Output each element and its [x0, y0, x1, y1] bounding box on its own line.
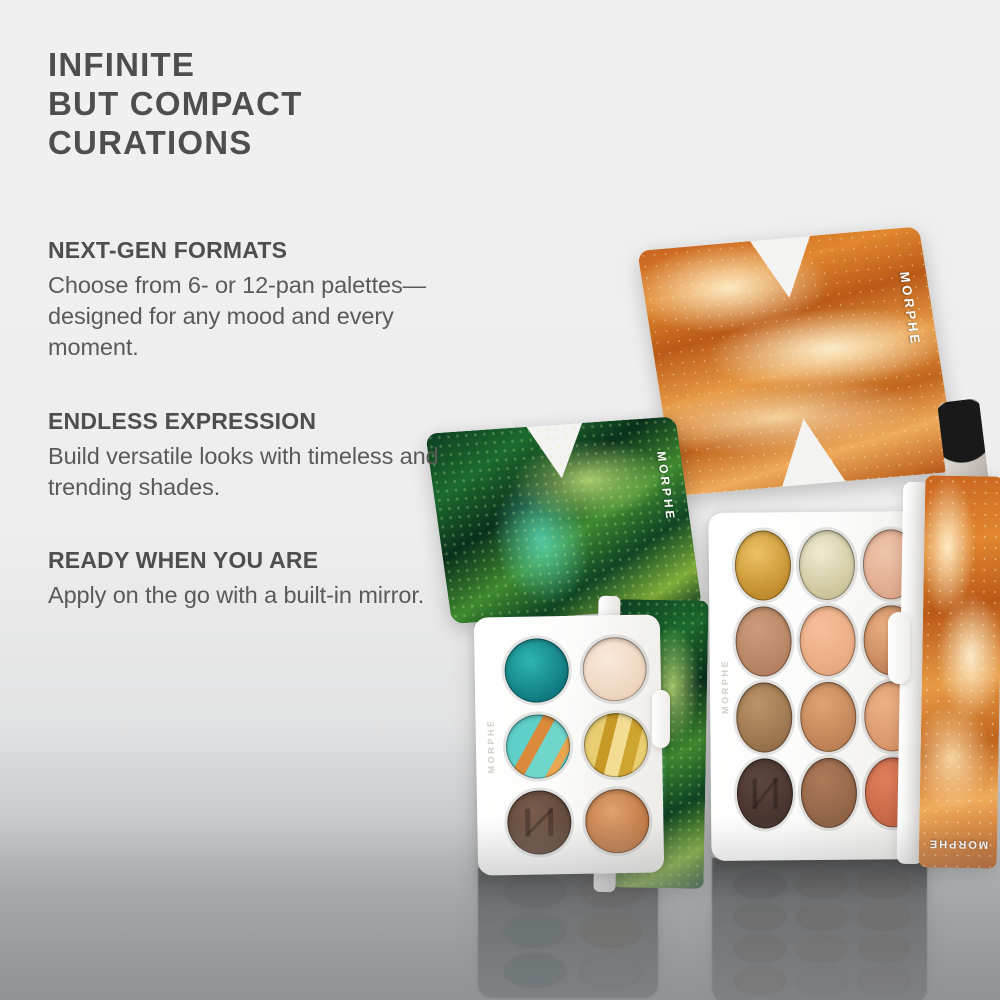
six-pan-rail: MORPHE — [478, 617, 504, 875]
copper-standing-lid[interactable]: MORPHE — [919, 475, 1000, 868]
feature-title: NEXT-GEN FORMATS — [48, 237, 478, 264]
twelve-pan-grid — [735, 529, 922, 841]
feature-body: Apply on the go with a built-in mirror. — [48, 580, 478, 611]
shade-pan[interactable] — [800, 682, 857, 752]
headline-line-3: CURATIONS — [48, 124, 478, 163]
headline-line-1: INFINITE — [48, 46, 478, 85]
feature-next-gen-formats: NEXT-GEN FORMATS Choose from 6- or 12-pa… — [48, 237, 478, 364]
scene-background: INFINITE BUT COMPACT CURATIONS NEXT-GEN … — [0, 0, 1000, 1000]
shade-pan-logo[interactable] — [507, 790, 572, 855]
lid-wordmark: MORPHE — [654, 451, 678, 522]
shade-pan[interactable] — [585, 789, 650, 854]
feature-title: READY WHEN YOU ARE — [48, 547, 478, 574]
lid-notch-bottom — [758, 415, 865, 496]
feature-endless-expression: ENDLESS EXPRESSION Build versatile looks… — [48, 408, 478, 504]
copper-foil-lid[interactable]: MORPHE — [637, 226, 957, 496]
lid-notch-top — [525, 421, 591, 481]
clasp-tab-twelve-pan[interactable] — [888, 612, 910, 684]
shade-pan[interactable] — [799, 530, 856, 600]
shade-pan[interactable] — [735, 530, 792, 600]
feature-body: Build versatile looks with timeless and … — [48, 441, 478, 504]
reflection-pan-grid — [734, 867, 914, 995]
shade-pan[interactable] — [505, 714, 570, 779]
lid-notch-top — [749, 234, 821, 301]
rail-wordmark: MORPHE — [486, 719, 497, 774]
six-pan-grid — [504, 637, 650, 855]
reflection-pan-grid — [504, 876, 650, 988]
lid-wordmark: MORPHE — [928, 837, 988, 850]
clasp-tab-six-pan[interactable] — [652, 690, 670, 748]
feature-title: ENDLESS EXPRESSION — [48, 408, 478, 435]
shade-pan[interactable] — [583, 713, 648, 778]
six-pan-palette[interactable]: MORPHE — [474, 614, 664, 875]
twelve-pan-rail: MORPHE — [712, 513, 737, 861]
shade-pan[interactable] — [582, 637, 647, 702]
rail-wordmark: MORPHE — [720, 659, 730, 714]
feature-body: Choose from 6- or 12-pan palettes—design… — [48, 270, 478, 364]
page-title: INFINITE BUT COMPACT CURATIONS — [48, 46, 478, 163]
copy-column: INFINITE BUT COMPACT CURATIONS NEXT-GEN … — [48, 46, 478, 611]
feature-ready-when-you-are: READY WHEN YOU ARE Apply on the go with … — [48, 547, 478, 611]
shade-pan[interactable] — [801, 758, 858, 828]
shade-pan[interactable] — [735, 606, 792, 676]
shade-pan[interactable] — [736, 682, 793, 752]
shade-pan[interactable] — [799, 606, 856, 676]
shade-pan-logo[interactable] — [737, 758, 794, 828]
lid-wordmark: MORPHE — [897, 271, 924, 346]
twelve-pan-reflection — [712, 858, 927, 1000]
shade-pan[interactable] — [504, 638, 569, 703]
headline-line-2: BUT COMPACT — [48, 85, 478, 124]
